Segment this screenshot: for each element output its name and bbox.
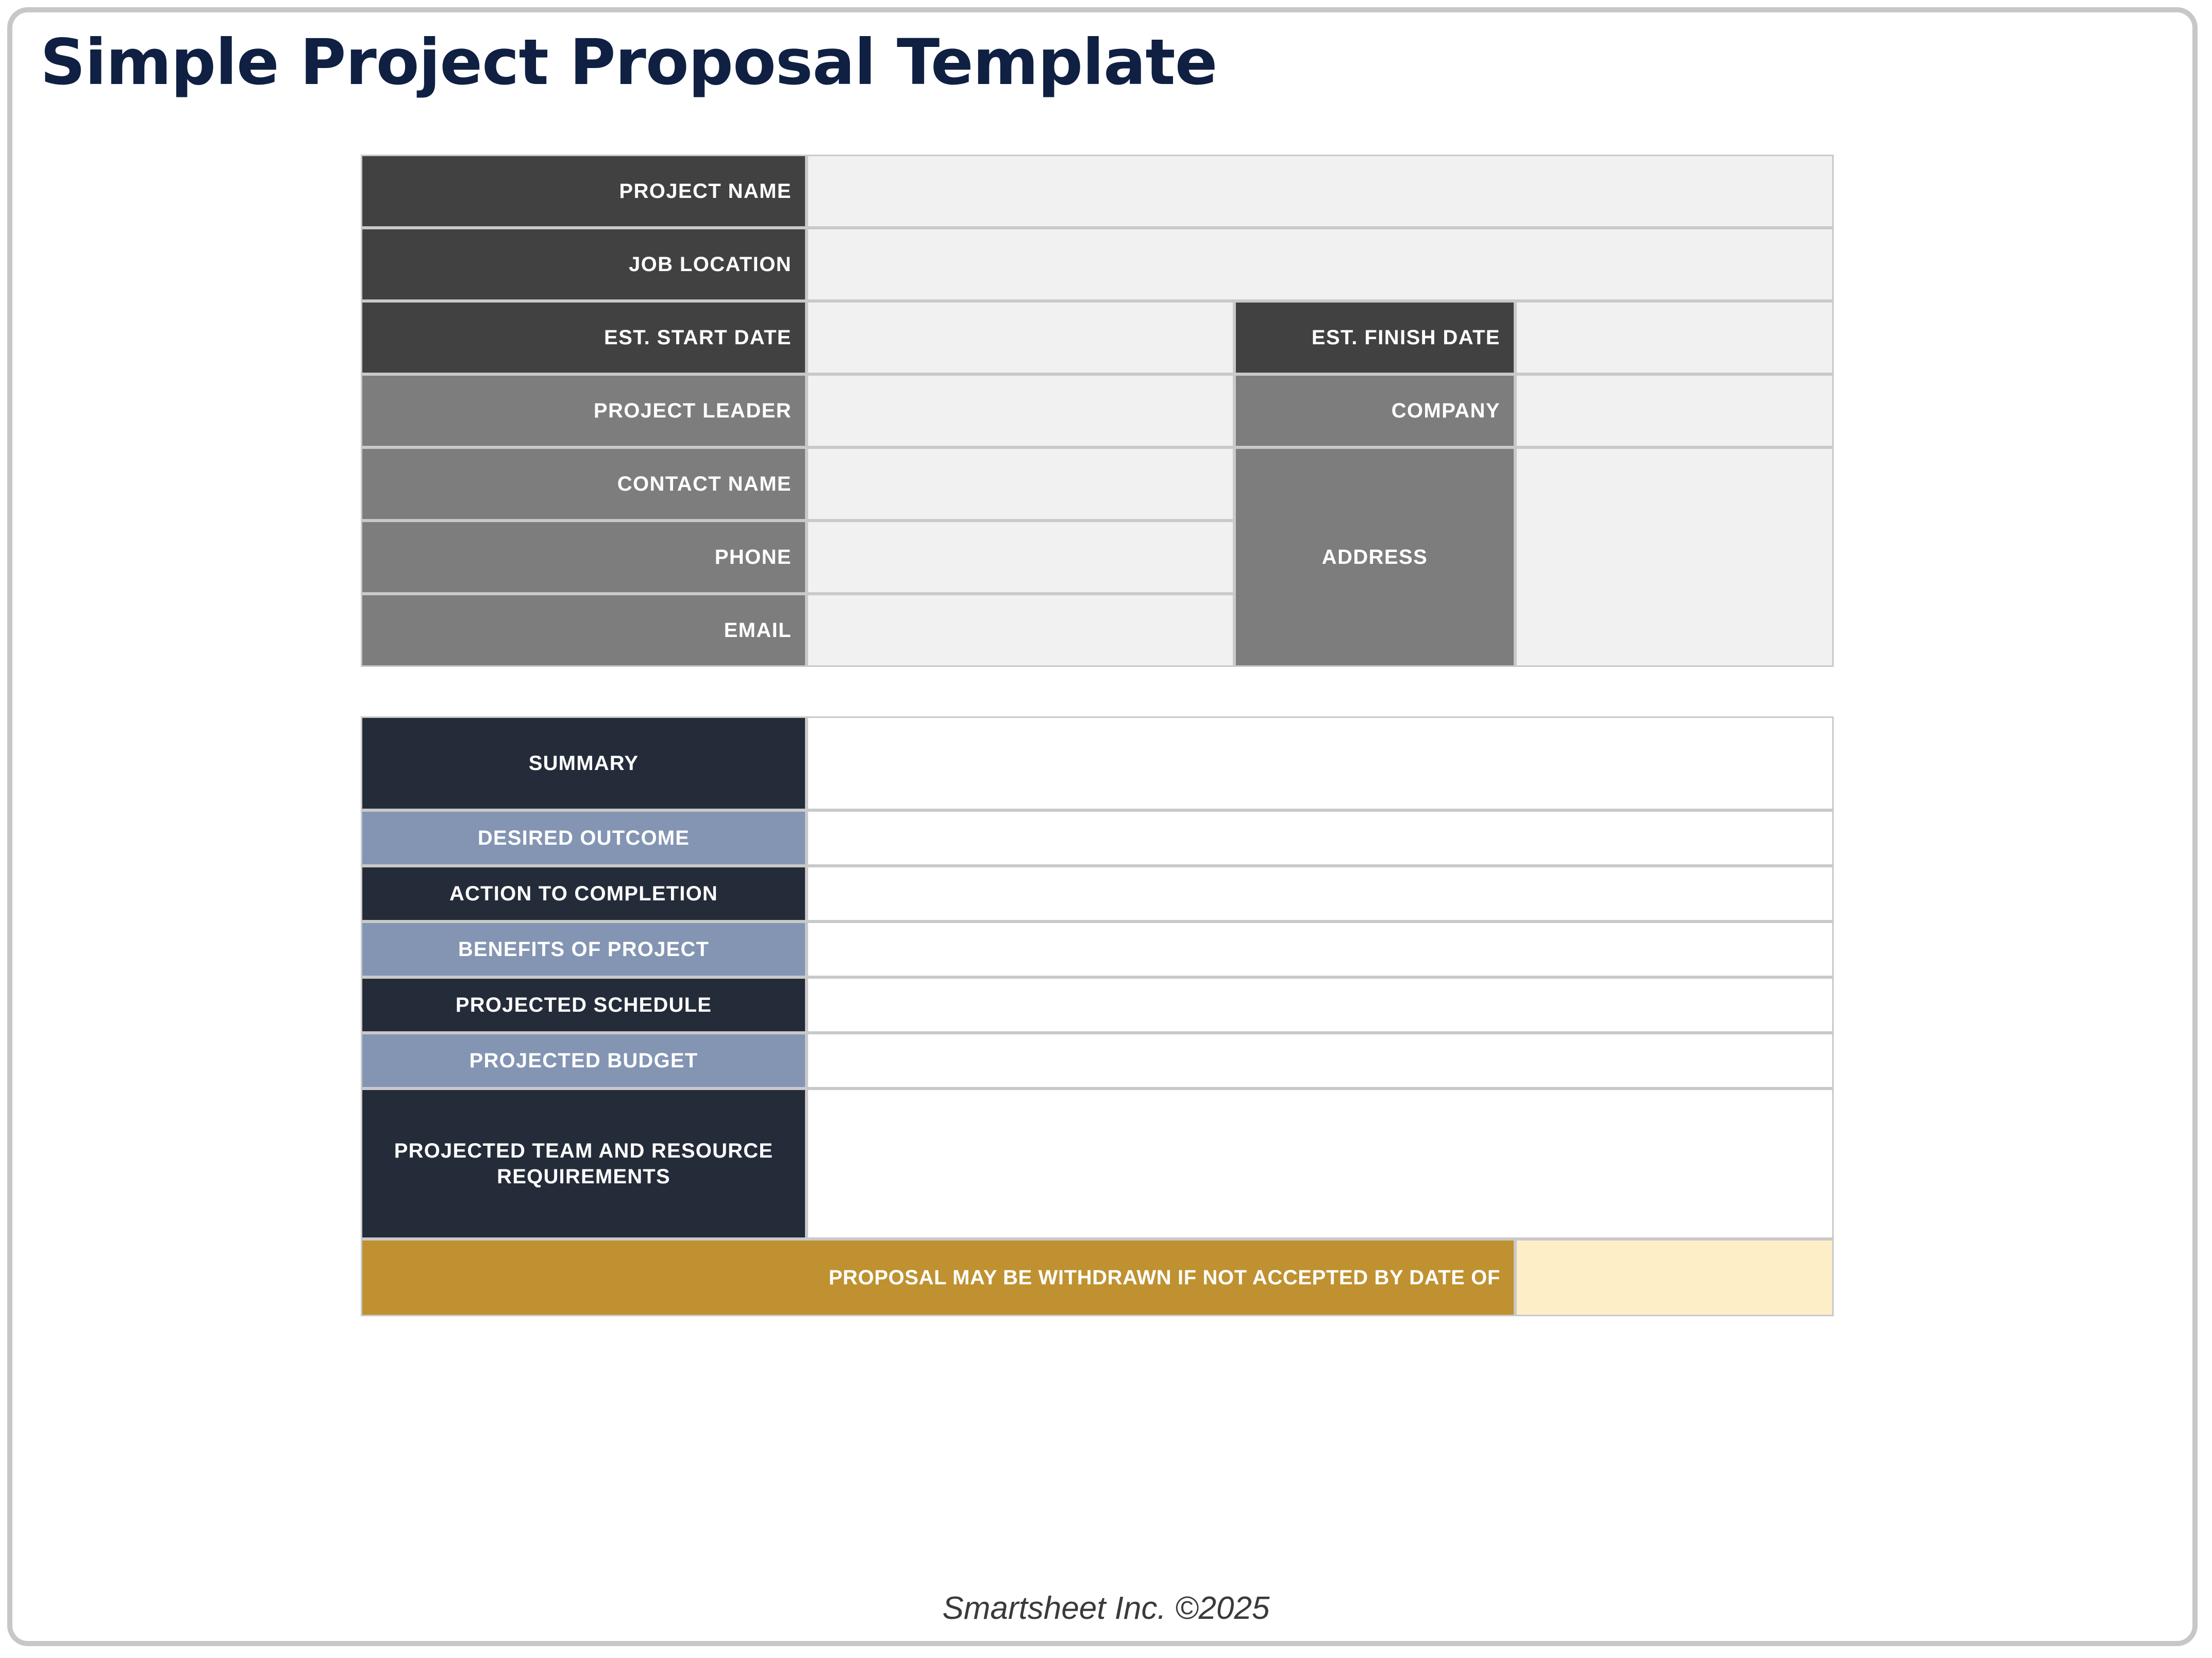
label-project-leader: PROJECT LEADER bbox=[361, 374, 807, 447]
label-phone: PHONE bbox=[361, 521, 807, 594]
input-est-finish-date[interactable] bbox=[1515, 301, 1834, 374]
withdrawal-date-input[interactable] bbox=[1515, 1239, 1834, 1316]
section-label-projected-schedule: PROJECTED SCHEDULE bbox=[361, 977, 807, 1033]
input-address[interactable] bbox=[1515, 447, 1834, 667]
input-project-leader[interactable] bbox=[807, 374, 1234, 447]
input-company[interactable] bbox=[1515, 374, 1834, 447]
section-label-projected-team-and-resource-requirements: PROJECTED TEAM AND RESOURCE REQUIREMENTS bbox=[361, 1088, 807, 1239]
section-label-action-to-completion: ACTION TO COMPLETION bbox=[361, 866, 807, 922]
page-title: Simple Project Proposal Template bbox=[40, 26, 1217, 99]
section-label-summary: SUMMARY bbox=[361, 716, 807, 810]
withdrawal-label: PROPOSAL MAY BE WITHDRAWN IF NOT ACCEPTE… bbox=[361, 1239, 1515, 1316]
label-email: EMAIL bbox=[361, 594, 807, 667]
section-input-projected-team-and-resource-requirements[interactable] bbox=[807, 1088, 1834, 1239]
input-project-name[interactable] bbox=[807, 155, 1834, 228]
input-est-start-date[interactable] bbox=[807, 301, 1234, 374]
label-job-location: JOB LOCATION bbox=[361, 228, 807, 301]
label-est-finish-date: EST. FINISH DATE bbox=[1234, 301, 1515, 374]
section-label-desired-outcome: DESIRED OUTCOME bbox=[361, 810, 807, 866]
section-label-projected-budget: PROJECTED BUDGET bbox=[361, 1033, 807, 1088]
label-est-start-date: EST. START DATE bbox=[361, 301, 807, 374]
label-project-name: PROJECT NAME bbox=[361, 155, 807, 228]
label-company: COMPANY bbox=[1234, 374, 1515, 447]
section-label-benefits-of-project: BENEFITS OF PROJECT bbox=[361, 922, 807, 977]
input-phone[interactable] bbox=[807, 521, 1234, 594]
label-address: ADDRESS bbox=[1234, 447, 1515, 667]
input-job-location[interactable] bbox=[807, 228, 1834, 301]
project-info-table: PROJECT NAME JOB LOCATION EST. START DAT… bbox=[361, 155, 1834, 665]
section-input-benefits-of-project[interactable] bbox=[807, 922, 1834, 977]
section-input-projected-budget[interactable] bbox=[807, 1033, 1834, 1088]
input-email[interactable] bbox=[807, 594, 1234, 667]
section-input-action-to-completion[interactable] bbox=[807, 866, 1834, 922]
proposal-sections-table: SUMMARY DESIRED OUTCOME ACTION TO COMPLE… bbox=[361, 716, 1834, 1572]
section-input-projected-schedule[interactable] bbox=[807, 977, 1834, 1033]
label-contact-name: CONTACT NAME bbox=[361, 447, 807, 521]
input-contact-name[interactable] bbox=[807, 447, 1234, 521]
section-input-summary[interactable] bbox=[807, 716, 1834, 810]
section-input-desired-outcome[interactable] bbox=[807, 810, 1834, 866]
copyright-footer: Smartsheet Inc. ©2025 bbox=[0, 1590, 2212, 1627]
